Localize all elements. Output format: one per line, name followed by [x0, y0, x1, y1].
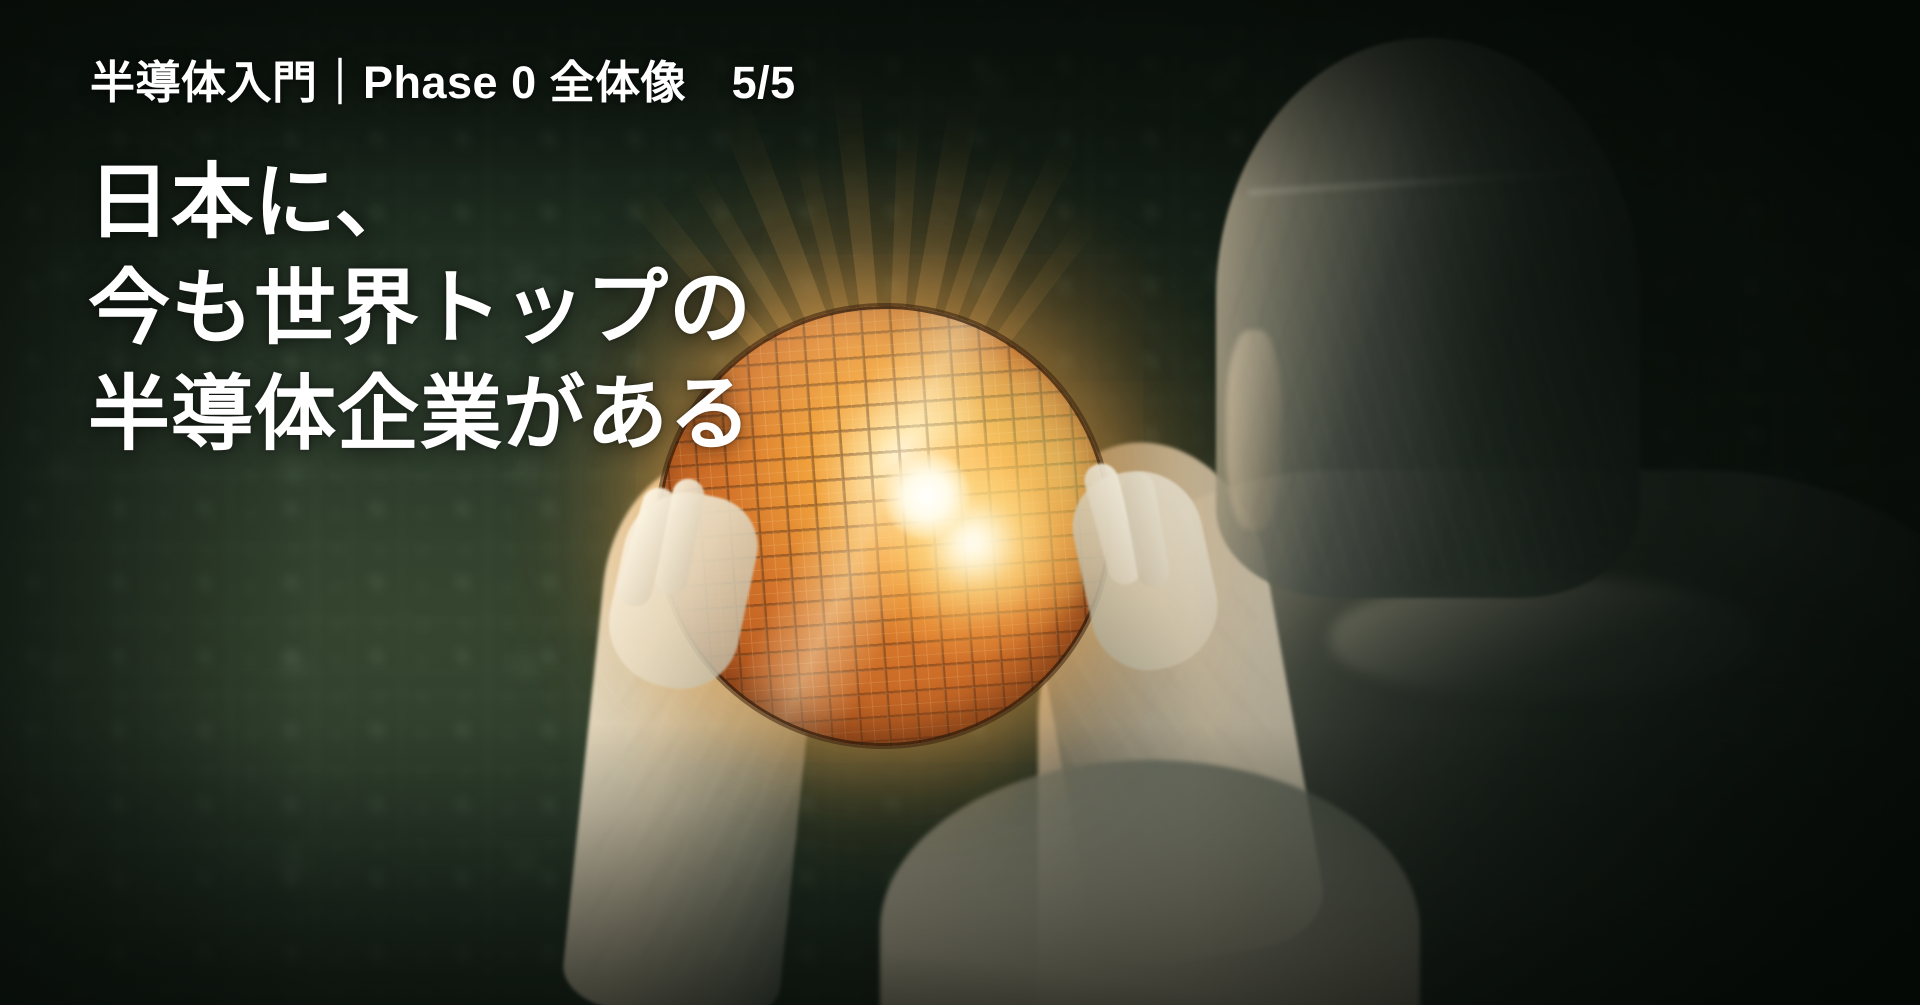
headline-line-1: 日本に、: [88, 150, 752, 256]
slide-canvas: 半導体入門｜Phase 0 全体像 5/5 日本に、 今も世界トップの 半導体企…: [0, 0, 1920, 1005]
headline-line-3: 半導体企業がある: [88, 362, 752, 468]
eyebrow-label: 半導体入門｜Phase 0 全体像 5/5: [90, 58, 796, 108]
page-title: 日本に、 今も世界トップの 半導体企業がある: [88, 150, 752, 467]
headline-line-2: 今も世界トップの: [88, 256, 752, 362]
text-overlay: 半導体入門｜Phase 0 全体像 5/5 日本に、 今も世界トップの 半導体企…: [0, 0, 1920, 1005]
